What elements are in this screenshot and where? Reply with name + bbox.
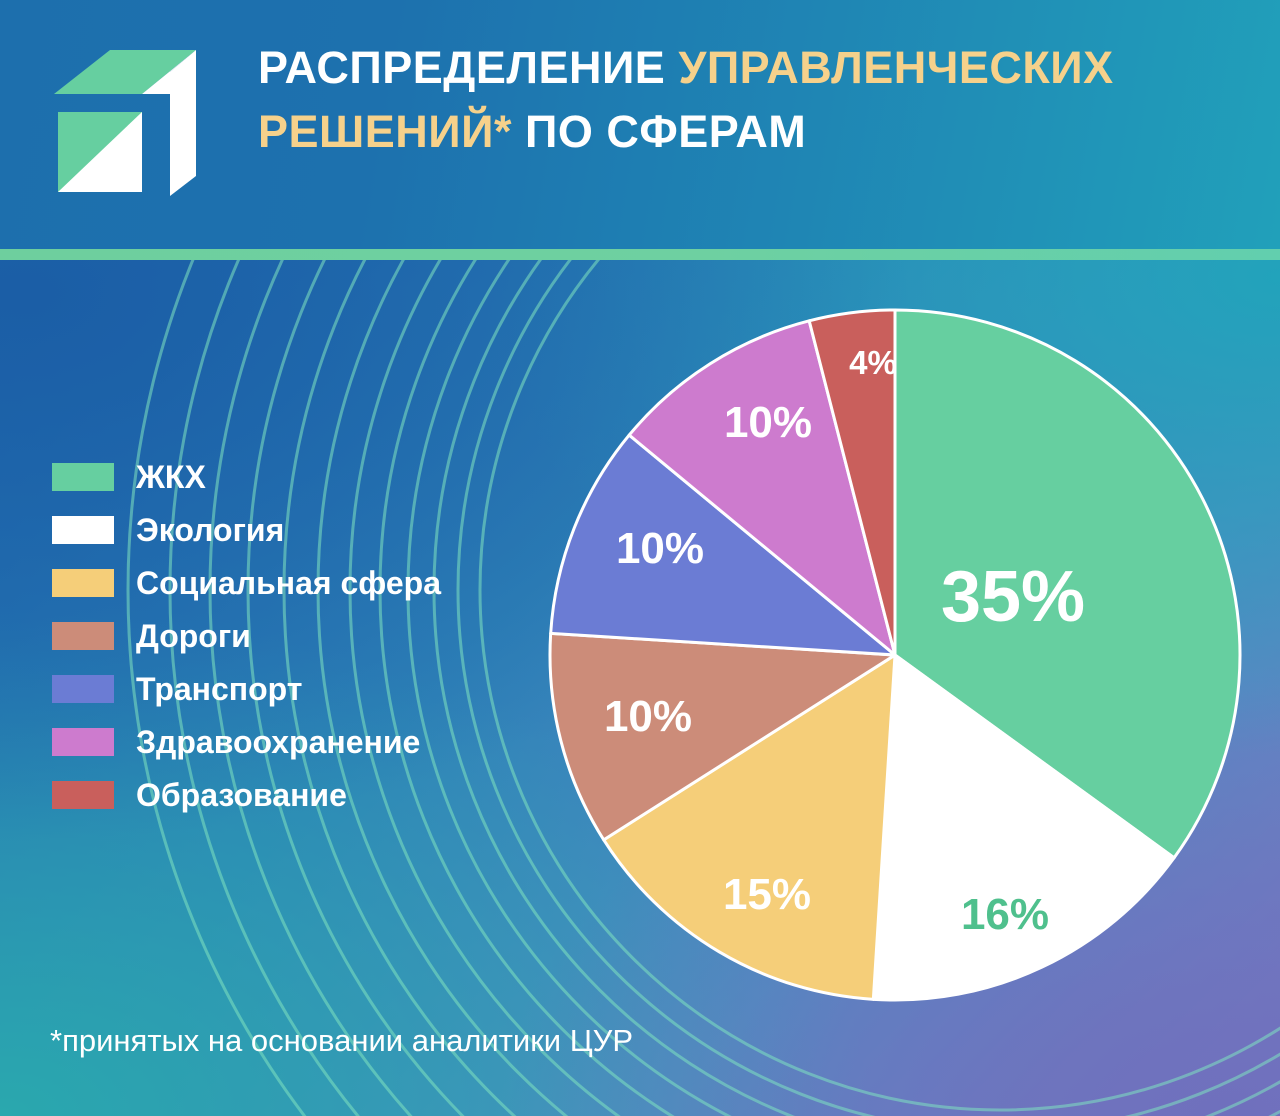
legend-swatch-ecology	[52, 516, 114, 544]
title-part-upravlencheskih: УПРАВЛЕНЧЕСКИХ	[678, 42, 1113, 93]
header-divider	[0, 249, 1280, 260]
pie-chart: 35%16%15%10%10%10%4%	[545, 305, 1245, 1005]
cur-cube-logo-icon	[50, 36, 200, 196]
legend-label-social: Социальная сфера	[136, 566, 441, 600]
legend-item-transport[interactable]: Транспорт	[52, 662, 522, 715]
title-part-po-sferam: ПО СФЕРАМ	[525, 106, 806, 157]
pie-slice-label: 10%	[616, 524, 704, 574]
page-title: РАСПРЕДЕЛЕНИЕ УПРАВЛЕНЧЕСКИХ РЕШЕНИЙ* ПО…	[258, 36, 1258, 164]
footnote: *принятых на основании аналитики ЦУР	[50, 1022, 633, 1060]
legend-item-zhkh[interactable]: ЖКХ	[52, 450, 522, 503]
legend-swatch-healthcare	[52, 728, 114, 756]
pie-chart-svg	[545, 305, 1245, 1005]
legend-item-education[interactable]: Образование	[52, 768, 522, 821]
legend-swatch-zhkh	[52, 463, 114, 491]
legend-swatch-roads	[52, 622, 114, 650]
legend-label-healthcare: Здравоохранение	[136, 725, 420, 759]
pie-slice-label: 10%	[724, 398, 812, 448]
legend-item-social[interactable]: Социальная сфера	[52, 556, 522, 609]
legend-swatch-social	[52, 569, 114, 597]
pie-slice-label: 4%	[849, 344, 897, 382]
legend-label-roads: Дороги	[136, 619, 251, 653]
legend-item-roads[interactable]: Дороги	[52, 609, 522, 662]
legend-item-healthcare[interactable]: Здравоохранение	[52, 715, 522, 768]
legend-item-ecology[interactable]: Экология	[52, 503, 522, 556]
title-line-2: РЕШЕНИЙ* ПО СФЕРАМ	[258, 100, 1258, 164]
title-part-resheniy: РЕШЕНИЙ*	[258, 106, 512, 157]
legend-label-zhkh: ЖКХ	[136, 460, 206, 494]
pie-slice-label: 15%	[723, 870, 811, 920]
legend-label-ecology: Экология	[136, 513, 284, 547]
legend-label-transport: Транспорт	[136, 672, 302, 706]
title-line-1: РАСПРЕДЕЛЕНИЕ УПРАВЛЕНЧЕСКИХ	[258, 36, 1258, 100]
title-part-raspredelenie: РАСПРЕДЕЛЕНИЕ	[258, 42, 665, 93]
legend-label-education: Образование	[136, 778, 347, 812]
legend-swatch-transport	[52, 675, 114, 703]
chart-body: ЖКХ Экология Социальная сфера Дороги Тра…	[0, 260, 1280, 1116]
infographic-root: РАСПРЕДЕЛЕНИЕ УПРАВЛЕНЧЕСКИХ РЕШЕНИЙ* ПО…	[0, 0, 1280, 1116]
legend-swatch-education	[52, 781, 114, 809]
pie-slice-label: 10%	[604, 692, 692, 742]
pie-slice-label: 35%	[941, 556, 1085, 638]
pie-slice-label: 16%	[961, 890, 1049, 940]
chart-legend: ЖКХ Экология Социальная сфера Дороги Тра…	[52, 450, 522, 821]
